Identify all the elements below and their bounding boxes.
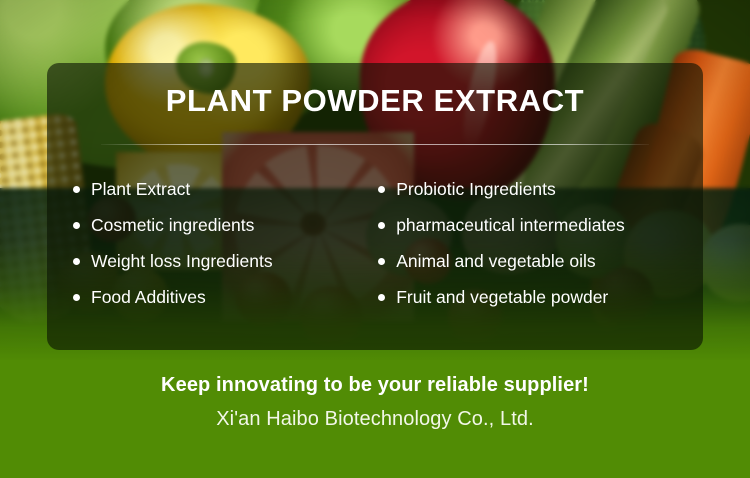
plant-powder-extract-banner: PLANT POWDER EXTRACT Plant Extract Cosme… [0, 0, 750, 478]
list-item[interactable]: pharmaceutical intermediates [378, 207, 703, 243]
list-item-label: Probiotic Ingredients [396, 179, 556, 200]
list-item-label: Weight loss Ingredients [91, 251, 273, 272]
list-item-label: Cosmetic ingredients [91, 215, 254, 236]
bullet-icon [73, 186, 80, 193]
page-title: PLANT POWDER EXTRACT [47, 85, 703, 116]
list-item[interactable]: Animal and vegetable oils [378, 243, 703, 279]
list-item[interactable]: Probiotic Ingredients [378, 171, 703, 207]
company-name: Xi'an Haibo Biotechnology Co., Ltd. [0, 408, 750, 431]
product-list-left-column: Plant Extract Cosmetic ingredients Weigh… [47, 171, 374, 315]
bullet-icon [378, 258, 385, 265]
bullet-icon [378, 294, 385, 301]
list-item[interactable]: Food Additives [73, 279, 374, 315]
list-item-label: Fruit and vegetable powder [396, 287, 608, 308]
bullet-icon [378, 222, 385, 229]
bullet-icon [378, 186, 385, 193]
list-item-label: Food Additives [91, 287, 206, 308]
list-item[interactable]: Cosmetic ingredients [73, 207, 374, 243]
bullet-icon [73, 258, 80, 265]
list-item[interactable]: Fruit and vegetable powder [378, 279, 703, 315]
list-item[interactable]: Plant Extract [73, 171, 374, 207]
bullet-icon [73, 222, 80, 229]
list-item-label: pharmaceutical intermediates [396, 215, 625, 236]
list-item[interactable]: Weight loss Ingredients [73, 243, 374, 279]
bullet-icon [73, 294, 80, 301]
footer-tagline: Keep innovating to be your reliable supp… [0, 374, 750, 397]
footer-band: Keep innovating to be your reliable supp… [0, 360, 750, 478]
list-item-label: Plant Extract [91, 179, 190, 200]
list-item-label: Animal and vegetable oils [396, 251, 595, 272]
product-category-lists: Plant Extract Cosmetic ingredients Weigh… [47, 171, 703, 315]
content-overlay-panel: PLANT POWDER EXTRACT Plant Extract Cosme… [47, 63, 703, 350]
product-list-right-column: Probiotic Ingredients pharmaceutical int… [374, 171, 703, 315]
title-divider [101, 144, 649, 145]
